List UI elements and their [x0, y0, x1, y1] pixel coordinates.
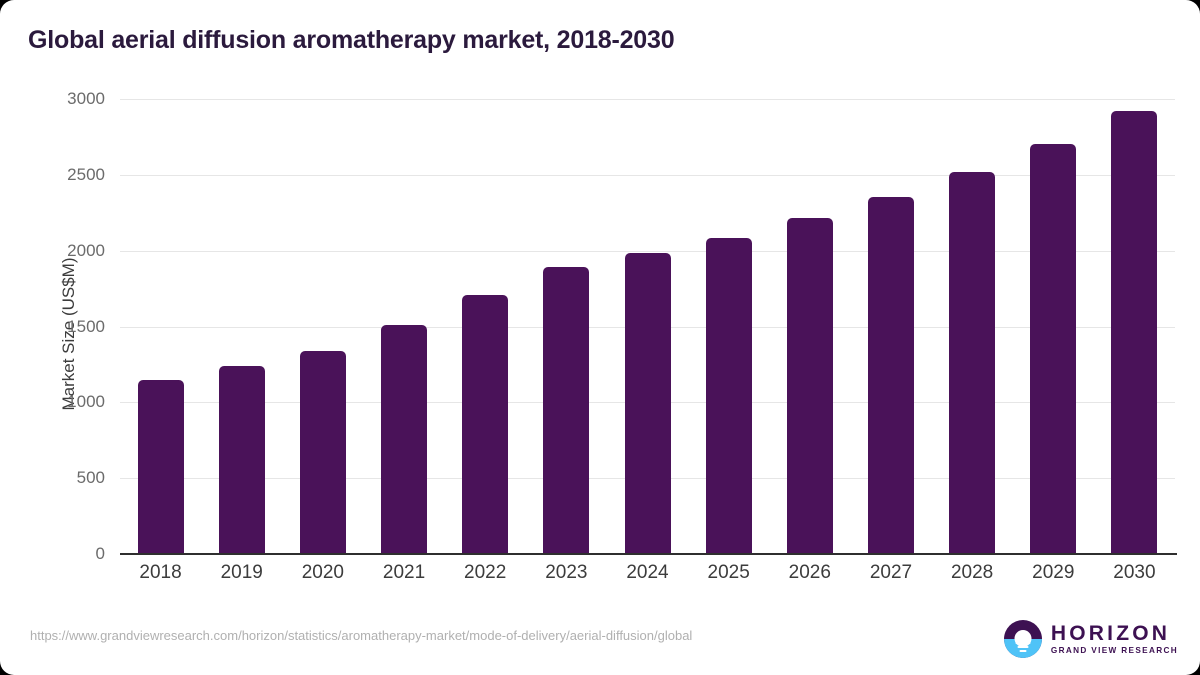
x-tick-label-2020: 2020 [283, 562, 363, 584]
x-tick-label-2029: 2029 [1013, 562, 1093, 584]
x-tick-label-2026: 2026 [770, 562, 850, 584]
y-tick-label: 500 [45, 468, 105, 488]
logo-ray-3 [1019, 650, 1026, 652]
logo-ray-2 [1017, 646, 1028, 648]
x-tick-label-2022: 2022 [445, 562, 525, 584]
x-axis-line [120, 553, 1177, 555]
chart-card: Global aerial diffusion aromatherapy mar… [0, 0, 1200, 675]
y-tick-label: 3000 [45, 89, 105, 109]
x-tick-label-2025: 2025 [689, 562, 769, 584]
x-tick-label-2019: 2019 [202, 562, 282, 584]
bar-2027[interactable] [868, 197, 914, 554]
x-tick-label-2021: 2021 [364, 562, 444, 584]
bar-2023[interactable] [543, 267, 589, 554]
bar-2029[interactable] [1030, 144, 1076, 554]
y-axis: Market Size (US$M) 050010001500200025003… [35, 99, 105, 554]
bar-2024[interactable] [625, 253, 671, 554]
gridline [120, 251, 1175, 252]
x-tick-label-2024: 2024 [608, 562, 688, 584]
logo-ray-1 [1015, 642, 1030, 644]
source-url[interactable]: https://www.grandviewresearch.com/horizo… [30, 628, 692, 643]
x-tick-label-2027: 2027 [851, 562, 931, 584]
bar-2021[interactable] [381, 325, 427, 554]
logo-sun-shape [1014, 630, 1031, 647]
bar-2030[interactable] [1111, 111, 1157, 554]
bar-2025[interactable] [706, 238, 752, 554]
y-tick-label: 1000 [45, 392, 105, 412]
x-tick-label-2030: 2030 [1094, 562, 1174, 584]
gridline [120, 99, 1175, 100]
logo-tagline: GRAND VIEW RESEARCH [1051, 647, 1178, 656]
bar-2026[interactable] [787, 218, 833, 554]
page-title: Global aerial diffusion aromatherapy mar… [28, 26, 674, 55]
logo-name: HORIZON [1051, 623, 1178, 645]
y-tick-label: 0 [45, 544, 105, 564]
bar-2019[interactable] [219, 366, 265, 554]
y-tick-label: 2500 [45, 165, 105, 185]
x-tick-label-2028: 2028 [932, 562, 1012, 584]
x-axis: 2018201920202021202220232024202520262027… [120, 562, 1175, 594]
gridline [120, 175, 1175, 176]
bar-2020[interactable] [300, 351, 346, 554]
x-tick-label-2018: 2018 [121, 562, 201, 584]
bar-2022[interactable] [462, 295, 508, 554]
bar-2018[interactable] [138, 380, 184, 554]
logo-text: HORIZON GRAND VIEW RESEARCH [1051, 623, 1178, 656]
horizon-logo: HORIZON GRAND VIEW RESEARCH [1004, 618, 1178, 660]
y-tick-label: 2000 [45, 241, 105, 261]
sunrise-over-water-icon [1004, 620, 1042, 658]
bar-2028[interactable] [949, 172, 995, 554]
plot-area [120, 99, 1175, 554]
y-tick-label: 1500 [45, 317, 105, 337]
x-tick-label-2023: 2023 [526, 562, 606, 584]
